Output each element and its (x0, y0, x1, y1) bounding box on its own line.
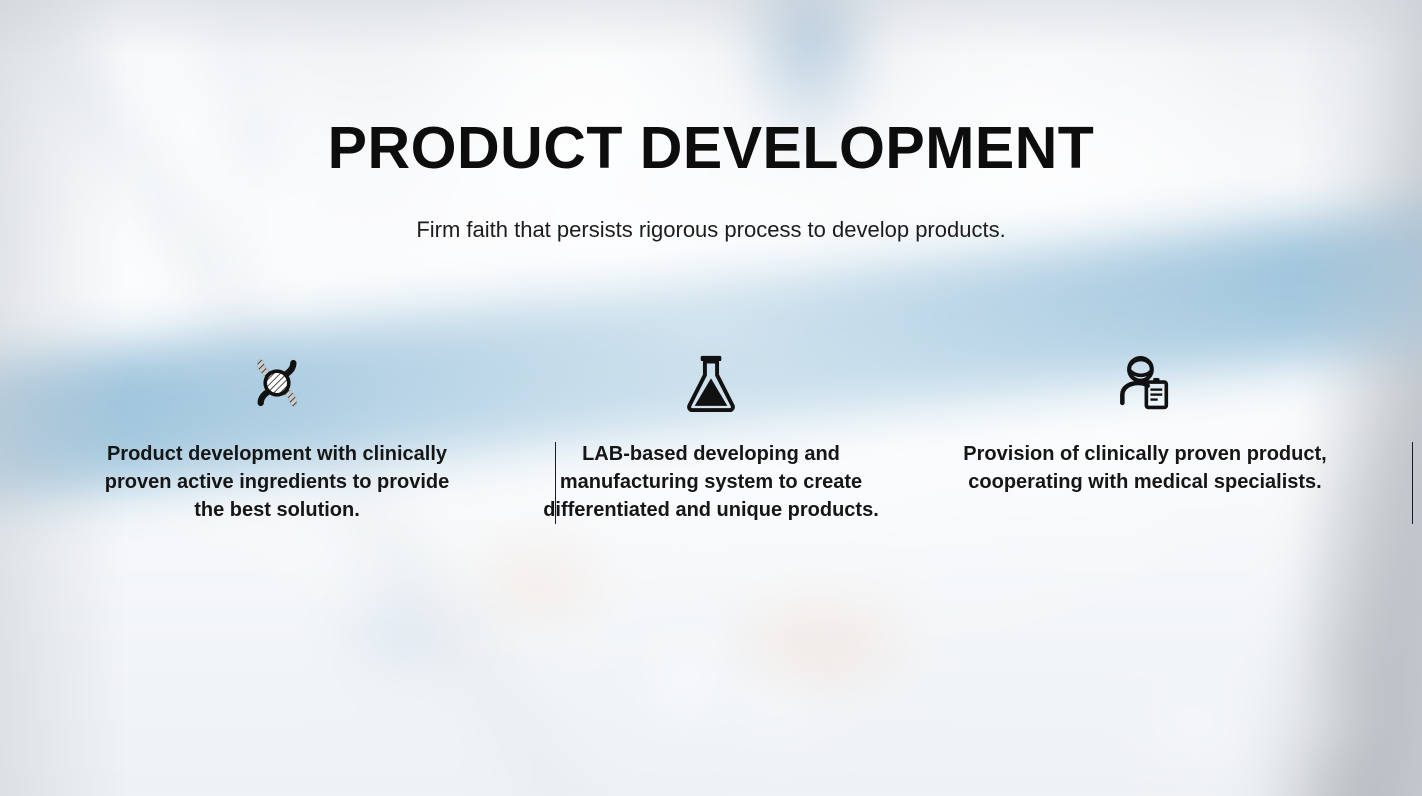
feature-item-text: Product development with clinically prov… (93, 440, 461, 524)
page-title: PRODUCT DEVELOPMENT (0, 118, 1422, 180)
product-development-hero: PRODUCT DEVELOPMENT Firm faith that pers… (0, 0, 1422, 796)
feature-item-text: LAB-based developing and manufacturing s… (527, 440, 895, 524)
feature-divider (1412, 442, 1413, 524)
medical-specialist-clipboard-icon (1114, 352, 1176, 414)
page-subtitle: Firm faith that persists rigorous proces… (0, 216, 1422, 245)
feature-item-text: Provision of clinically proven product, … (961, 440, 1329, 496)
feature-item-medical-specialists: Provision of clinically proven product, … (928, 352, 1362, 496)
feature-list: Product development with clinically prov… (60, 352, 1362, 524)
hero-content: PRODUCT DEVELOPMENT Firm faith that pers… (0, 0, 1422, 796)
dna-helix-icon (246, 352, 308, 414)
erlenmeyer-flask-icon (680, 352, 742, 414)
feature-item-product-development: Product development with clinically prov… (60, 352, 494, 524)
feature-item-lab-manufacturing: LAB-based developing and manufacturing s… (494, 352, 928, 524)
